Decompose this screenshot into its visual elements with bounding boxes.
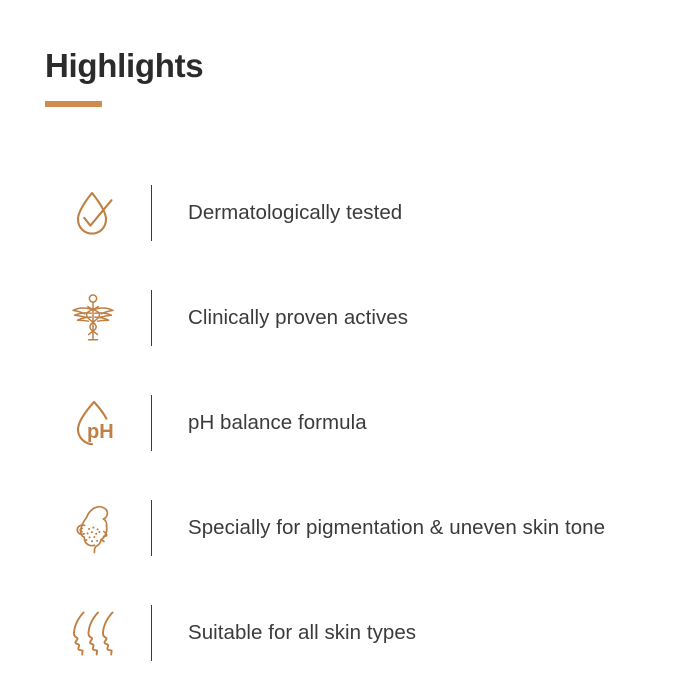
caduceus-icon bbox=[45, 286, 141, 350]
highlights-panel: Highlights Dermatologically tested bbox=[0, 0, 700, 700]
list-item: Specially for pigmentation & uneven skin… bbox=[45, 475, 665, 580]
title-accent-rule bbox=[45, 101, 102, 107]
highlights-list: Dermatologically tested bbox=[45, 160, 665, 685]
three-faces-icon bbox=[45, 601, 141, 665]
droplet-check-icon bbox=[45, 181, 141, 245]
list-item: Clinically proven actives bbox=[45, 265, 665, 370]
page-title: Highlights bbox=[45, 48, 203, 84]
face-pigmentation-icon bbox=[45, 496, 141, 560]
header: Highlights bbox=[45, 48, 203, 107]
list-item: Suitable for all skin types bbox=[45, 580, 665, 685]
list-item-label: Clinically proven actives bbox=[152, 303, 618, 332]
list-item: Dermatologically tested bbox=[45, 160, 665, 265]
list-item-label: pH balance formula bbox=[152, 408, 618, 437]
ph-icon-text: pH bbox=[87, 421, 114, 443]
list-item-label: Dermatologically tested bbox=[152, 198, 618, 227]
list-item: pH pH balance formula bbox=[45, 370, 665, 475]
ph-droplet-icon: pH bbox=[45, 391, 141, 455]
list-item-label: Suitable for all skin types bbox=[152, 618, 618, 647]
list-item-label: Specially for pigmentation & uneven skin… bbox=[152, 513, 618, 542]
